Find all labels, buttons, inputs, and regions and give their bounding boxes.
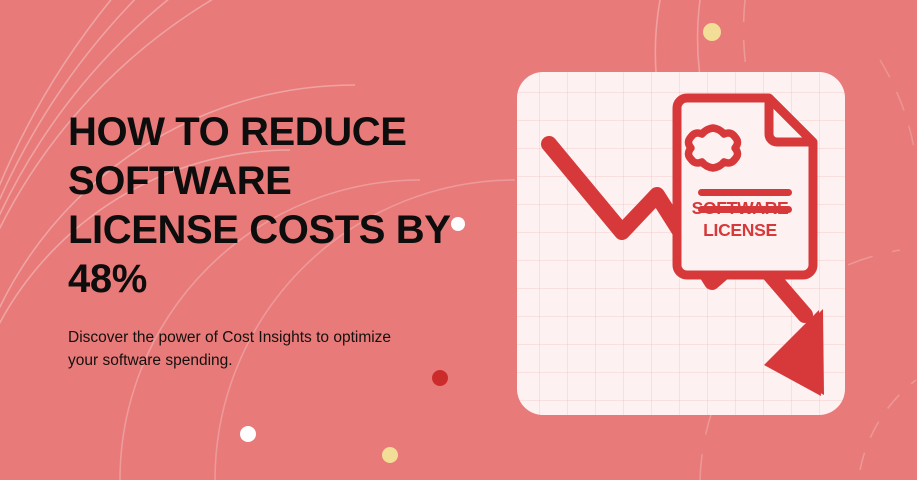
license-document-icon xyxy=(677,98,813,275)
document-rule-1 xyxy=(698,189,792,196)
text-block: HOW TO REDUCE SOFTWARE LICENSE COSTS BY … xyxy=(68,108,468,372)
dot-white-bottom xyxy=(240,426,256,442)
dot-yellow-top xyxy=(703,23,721,41)
card-artwork xyxy=(517,72,845,415)
dot-red-lower xyxy=(432,370,448,386)
document-rule-2 xyxy=(698,206,792,213)
banner-root: HOW TO REDUCE SOFTWARE LICENSE COSTS BY … xyxy=(0,0,917,480)
dot-yellow-bottom xyxy=(382,447,398,463)
page-title: HOW TO REDUCE SOFTWARE LICENSE COSTS BY … xyxy=(68,108,468,304)
page-subtitle: Discover the power of Cost Insights to o… xyxy=(68,304,398,372)
visual-card xyxy=(517,72,845,415)
